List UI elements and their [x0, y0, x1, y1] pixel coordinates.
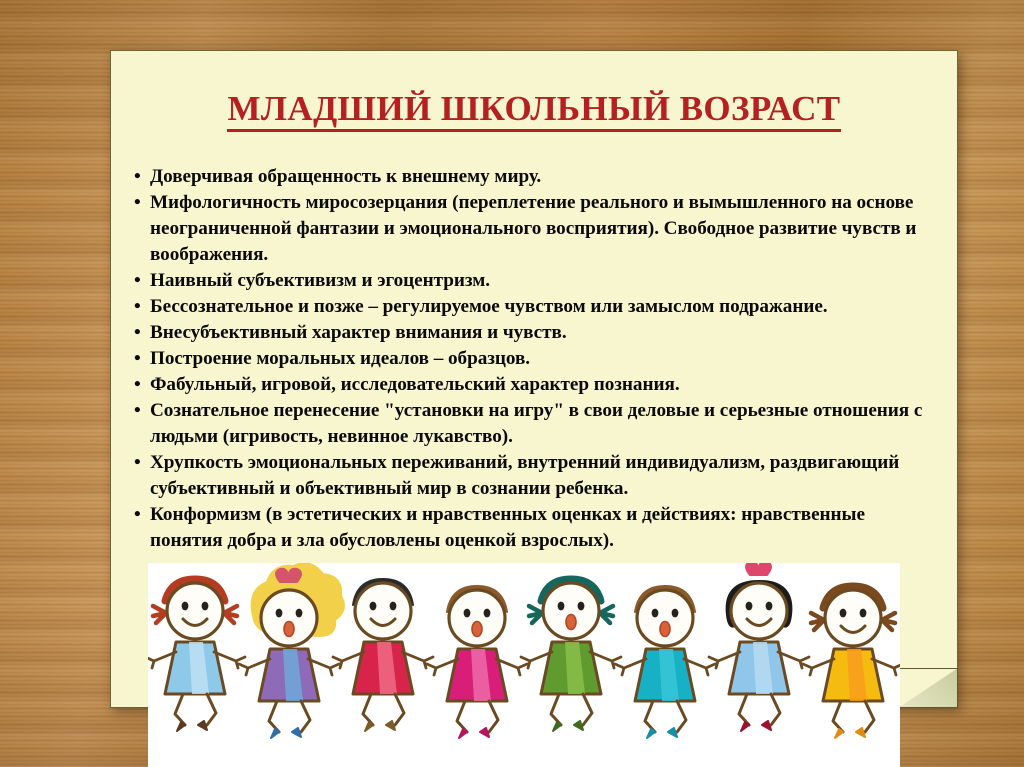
child-figure-2 [239, 563, 344, 738]
child-figure-7 [709, 563, 809, 731]
bullet-dot-icon: • [134, 450, 141, 476]
bullet-item-1: • Доверчивая обращенность к внешнему мир… [134, 164, 935, 190]
child-figure-8 [803, 586, 900, 738]
bullet-text-10: Конформизм (в эстетических и нравственны… [150, 504, 865, 551]
child-figure-3 [333, 579, 433, 731]
bullet-text-9: Хрупкость эмоциональных переживаний, вну… [150, 452, 899, 499]
bullet-item-3: • Наивный субъективизм и эгоцентризм. [134, 268, 935, 294]
bullet-dot-icon: • [134, 372, 141, 398]
bullet-text-3: Наивный субъективизм и эгоцентризм. [150, 270, 490, 291]
bullet-text-6: Построение моральных идеалов – образцов. [150, 348, 530, 369]
bullet-item-5: • Внесубъективный характер внимания и чу… [134, 320, 935, 346]
child-figure-4 [427, 586, 527, 738]
bullet-dot-icon: • [134, 190, 141, 216]
slide-title: МЛАДШИЙ ШКОЛЬНЫЙ ВОЗРАСТ [227, 91, 840, 131]
bullet-item-9: • Хрупкость эмоциональных переживаний, в… [134, 450, 935, 501]
bullet-text-2: Мифологичность миросозерцания (переплете… [150, 192, 916, 264]
page-curl-fold [898, 668, 958, 708]
bullet-dot-icon: • [134, 268, 141, 294]
children-holding-hands-svg [148, 563, 900, 767]
bullet-text-4: Бессознательное и позже – регулируемое ч… [150, 296, 828, 317]
bullet-dot-icon: • [134, 164, 141, 190]
bullet-item-2: • Мифологичность миросозерцания (перепле… [134, 190, 935, 267]
bullet-dot-icon: • [134, 346, 141, 372]
page-curl-edge [897, 668, 958, 669]
bullet-text-5: Внесубъективный характер внимания и чувс… [150, 322, 567, 343]
bullet-list: • Доверчивая обращенность к внешнему мир… [111, 164, 957, 553]
bullet-item-8: • Сознательное перенесение "установки на… [134, 398, 935, 449]
bullet-dot-icon: • [134, 320, 141, 346]
bullet-text-1: Доверчивая обращенность к внешнему миру. [150, 166, 541, 187]
child-figure-6 [615, 586, 715, 738]
bullet-dot-icon: • [134, 398, 141, 424]
bullet-item-6: • Построение моральных идеалов – образцо… [134, 346, 935, 372]
child-figure-1 [148, 579, 245, 731]
children-illustration [148, 563, 900, 767]
bullet-item-10: • Конформизм (в эстетических и нравствен… [134, 502, 935, 553]
child-figure-5 [521, 579, 621, 731]
bullet-text-7: Фабульный, игровой, исследовательский ха… [150, 374, 680, 395]
bullet-dot-icon: • [134, 294, 141, 320]
bullet-item-7: • Фабульный, игровой, исследовательский … [134, 372, 935, 398]
bullet-text-8: Сознательное перенесение "установки на и… [150, 400, 922, 447]
title-block: МЛАДШИЙ ШКОЛЬНЫЙ ВОЗРАСТ [111, 51, 957, 155]
bullet-item-4: • Бессознательное и позже – регулируемое… [134, 294, 935, 320]
bullet-dot-icon: • [134, 502, 141, 528]
